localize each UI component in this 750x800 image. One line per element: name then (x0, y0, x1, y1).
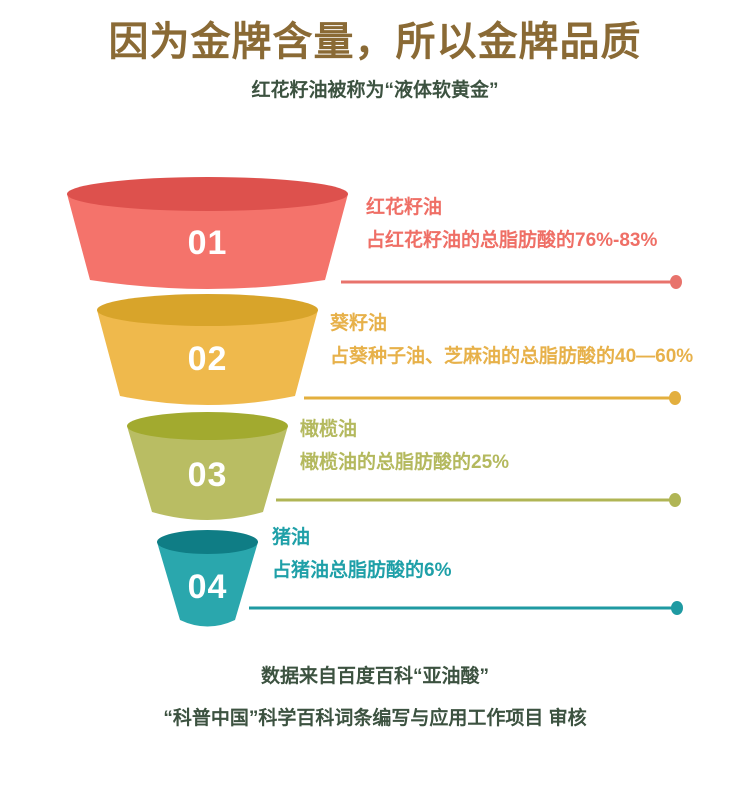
connector-dot-01 (670, 275, 682, 289)
page-subtitle: 红花籽油被称为“液体软黄金” (0, 66, 750, 104)
funnel-segment-02-number: 02 (188, 340, 228, 378)
header: 因为金牌含量，所以金牌品质 红花籽油被称为“液体软黄金” (0, 0, 750, 104)
funnel-label-04: 猪油 占猪油总脂肪酸的6% (272, 526, 451, 583)
infographic-page: 因为金牌含量，所以金牌品质 红花籽油被称为“液体软黄金” 01 02 03 (0, 0, 750, 800)
funnel-label-01: 红花籽油 占红花籽油的总脂肪酸的76%-83% (366, 196, 657, 253)
funnel-segment-04-top-ellipse (157, 530, 258, 554)
footer: 数据来自百度百科“亚油酸” “科普中国”科学百科词条编写与应用工作项目 审核 (0, 665, 750, 731)
funnel-label-03: 橄榄油 橄榄油的总脂肪酸的25% (300, 418, 509, 475)
funnel-label-03-title: 橄榄油 (300, 418, 509, 442)
funnel-segment-04[interactable]: 04 (157, 530, 258, 627)
connector-line-01 (341, 275, 682, 289)
funnel-label-02-title: 葵籽油 (330, 312, 693, 336)
funnel-segment-01-number: 01 (188, 224, 228, 262)
connector-dot-03 (669, 493, 681, 507)
connector-dot-02 (669, 391, 681, 405)
funnel-label-01-desc: 占红花籽油的总脂肪酸的76%-83% (366, 220, 657, 253)
funnel-label-02-desc: 占葵种子油、芝麻油的总脂肪酸的40—60% (330, 336, 693, 369)
funnel-segment-02-top-ellipse (97, 294, 318, 326)
funnel-label-03-desc: 橄榄油的总脂肪酸的25% (300, 442, 509, 475)
funnel-segment-01-top-ellipse (67, 177, 348, 211)
connector-line-03 (276, 493, 681, 507)
connector-dot-04 (671, 601, 683, 615)
footer-review-line: “科普中国”科学百科词条编写与应用工作项目 审核 (0, 689, 750, 731)
funnel-label-01-title: 红花籽油 (366, 196, 657, 220)
funnel-segment-03-number: 03 (188, 456, 228, 494)
funnel-label-02: 葵籽油 占葵种子油、芝麻油的总脂肪酸的40—60% (330, 312, 693, 369)
connector-line-02 (304, 391, 681, 405)
page-title: 因为金牌含量，所以金牌品质 (0, 0, 750, 66)
funnel-label-04-title: 猪油 (272, 526, 451, 550)
funnel-label-04-desc: 占猪油总脂肪酸的6% (272, 550, 451, 583)
footer-source-line: 数据来自百度百科“亚油酸” (0, 665, 750, 689)
funnel-segment-03-top-ellipse (127, 412, 288, 440)
funnel-segment-01[interactable]: 01 (67, 177, 348, 289)
funnel-chart: 01 02 03 04 (0, 170, 750, 650)
funnel-segment-04-number: 04 (188, 568, 228, 606)
connector-line-04 (249, 601, 683, 615)
funnel-segment-02[interactable]: 02 (97, 294, 318, 405)
funnel-segment-03[interactable]: 03 (127, 412, 288, 520)
